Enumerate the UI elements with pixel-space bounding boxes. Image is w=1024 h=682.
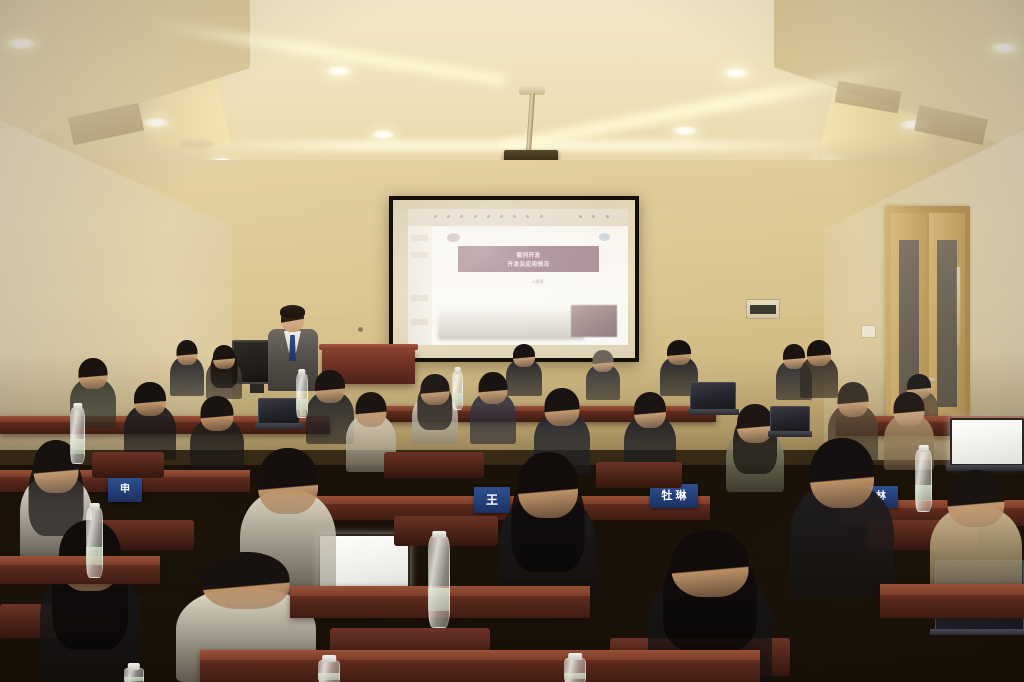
slide-photo xyxy=(571,305,617,338)
attendee-head xyxy=(79,358,108,389)
wall-control-panel[interactable] xyxy=(746,299,780,319)
bottle-body xyxy=(70,408,85,464)
slide-cityscape-graphic xyxy=(438,305,583,340)
attendee-head xyxy=(258,448,318,514)
laptop-screen xyxy=(770,406,810,432)
bottle-cap xyxy=(128,663,140,670)
laptop xyxy=(770,406,810,432)
attendee xyxy=(790,438,894,598)
desk-edge xyxy=(200,650,760,660)
bottle-label xyxy=(124,677,144,681)
bottle-cap xyxy=(568,653,582,660)
attendee xyxy=(124,382,176,460)
attendee-head xyxy=(807,340,831,366)
attendee-head xyxy=(737,404,773,443)
bottle-body xyxy=(915,450,932,512)
attendee xyxy=(190,396,244,476)
bottle-body xyxy=(296,374,308,418)
attendee-head xyxy=(810,438,874,508)
recessed-downlight xyxy=(371,130,395,140)
screen-surface: 案列开发 开发及应用情况 人民网 xyxy=(393,200,635,358)
water-bottle xyxy=(428,536,450,628)
desk-edge xyxy=(880,584,1024,595)
water-bottle xyxy=(915,450,932,512)
bottle-cap xyxy=(322,655,336,662)
water-bottle xyxy=(296,374,308,418)
water-bottle xyxy=(70,408,85,464)
laptop-base xyxy=(768,431,813,437)
attendee-head xyxy=(593,350,614,372)
slide-logo-right xyxy=(599,233,610,241)
slide-thumbnail-panel xyxy=(408,226,432,346)
water-bottle xyxy=(86,508,103,578)
attendee-head xyxy=(134,382,166,416)
laptop-screen xyxy=(690,382,736,410)
attendee-head xyxy=(894,392,925,426)
bottle-cap xyxy=(454,367,461,374)
laptop-base xyxy=(930,629,1024,635)
wall-speaker-dot xyxy=(358,327,363,332)
recessed-downlight xyxy=(722,68,750,79)
attendee xyxy=(470,372,516,444)
air-vent xyxy=(180,140,214,148)
bottle-label xyxy=(70,439,85,454)
laptop-base xyxy=(687,409,739,415)
recessed-downlight xyxy=(325,66,353,77)
water-bottle xyxy=(318,660,340,682)
attendee-head xyxy=(203,552,290,609)
bottle-label xyxy=(86,547,103,565)
recessed-downlight xyxy=(990,43,1018,54)
bottle-label xyxy=(915,485,932,501)
attendee-desk xyxy=(200,650,760,682)
attendee-head xyxy=(634,392,666,428)
placard-left-a: 申 xyxy=(108,478,142,502)
chair-back xyxy=(596,462,682,488)
placard-character: 申 xyxy=(120,485,130,495)
attendee-head xyxy=(356,392,387,427)
attendee-head xyxy=(213,345,235,369)
bottle-body xyxy=(86,508,103,578)
podium-top-edge xyxy=(319,344,418,350)
laptop xyxy=(950,418,1024,466)
slide-title-line2: 开发及应用情况 xyxy=(508,260,550,268)
app-toolbar xyxy=(408,209,628,225)
attendee-desk xyxy=(880,584,1024,618)
presenter-hair xyxy=(280,305,305,318)
bottle-label xyxy=(428,588,450,612)
attendee-head xyxy=(315,370,345,403)
wall-sign xyxy=(861,325,876,338)
recessed-downlight xyxy=(143,118,169,128)
attendee-head xyxy=(479,372,508,404)
attendee-head xyxy=(513,344,535,367)
bottle-label xyxy=(564,673,586,680)
desk-edge xyxy=(0,556,160,565)
bottle-label xyxy=(296,399,308,410)
conference-room-photo: 案列开发 开发及应用情况 人民网 xyxy=(0,0,1024,682)
door-glass-highlight xyxy=(957,267,960,347)
placard-character: 牡 xyxy=(662,491,673,502)
attendee-head xyxy=(421,374,450,405)
water-bottle xyxy=(124,668,144,682)
bottle-cap xyxy=(73,403,82,410)
attendee-desk xyxy=(0,556,160,584)
bottle-cap xyxy=(918,445,929,452)
slide-title-line1: 案列开发 xyxy=(517,251,541,259)
attendee-head xyxy=(838,382,869,417)
bottle-label xyxy=(318,673,340,679)
placard-character: 琳 xyxy=(676,491,687,502)
attendee xyxy=(586,350,620,400)
chair-back xyxy=(92,452,164,478)
bottle-cap xyxy=(298,369,305,376)
laptop xyxy=(258,398,300,424)
bottle-cap xyxy=(432,531,446,538)
water-bottle xyxy=(564,658,586,682)
bottle-body xyxy=(428,536,450,628)
attendee-head xyxy=(948,470,1005,527)
bottle-body xyxy=(452,372,463,410)
attendee-head xyxy=(667,340,691,365)
attendee xyxy=(930,470,1022,600)
laptop-screen xyxy=(258,398,300,424)
water-bottle xyxy=(452,372,463,410)
slide-title-band: 案列开发 开发及应用情况 xyxy=(458,246,599,272)
door-glass-panel xyxy=(937,240,957,407)
attendee-head xyxy=(177,340,198,365)
laptop-screen xyxy=(950,418,1024,466)
attendee-head xyxy=(545,388,580,426)
slide-logo xyxy=(447,233,460,243)
monitor-stand xyxy=(250,384,264,393)
attendee xyxy=(500,452,596,602)
recessed-downlight xyxy=(672,126,698,136)
attendee-head xyxy=(201,396,234,431)
attendee xyxy=(206,345,242,399)
attendee-head xyxy=(518,452,578,518)
recessed-downlight xyxy=(6,38,36,50)
slide-subtitle: 人民网 xyxy=(511,279,564,284)
projection-screen: 案列开发 开发及应用情况 人民网 xyxy=(389,196,639,362)
bottle-label xyxy=(452,393,463,403)
laptop xyxy=(690,382,736,410)
attendee-head xyxy=(672,530,749,597)
presentation-software-window: 案列开发 开发及应用情况 人民网 xyxy=(408,209,628,345)
chair-back xyxy=(384,452,484,478)
bottle-cap xyxy=(89,503,100,510)
laptop-base xyxy=(255,423,302,429)
placard-character: 王 xyxy=(486,494,498,506)
